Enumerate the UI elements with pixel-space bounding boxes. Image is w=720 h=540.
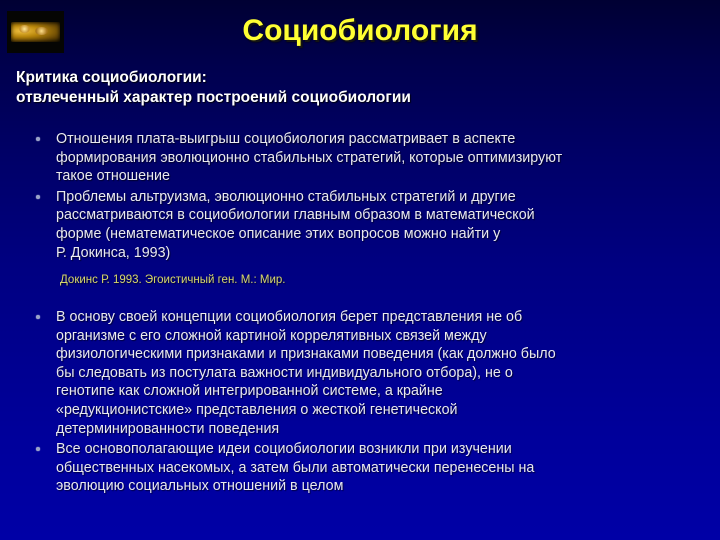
- bullet-dot-icon: [36, 137, 40, 141]
- slide-title: Социобиология: [0, 14, 720, 48]
- slide-subtitle: Критика социобиологии: отвлеченный харак…: [16, 68, 706, 108]
- list-item-line: генотипе как сложной интегрированной сис…: [56, 382, 702, 401]
- subtitle-line-1: Критика социобиологии:: [16, 68, 706, 88]
- list-item-line: рассматриваются в социобиологии главным …: [56, 206, 702, 225]
- list-item-line: детерминированности поведения: [56, 420, 702, 439]
- bullet-dot-icon: [36, 447, 40, 451]
- list-item-line: организме с его сложной картиной корреля…: [56, 327, 702, 346]
- list-item-text: Отношения плата-выигрыш социобиология ра…: [56, 130, 702, 186]
- citation-reference: Докинс Р. 1993. Эгоистичный ген. М.: Мир…: [60, 273, 285, 287]
- list-item-text: Проблемы альтруизма, эволюционно стабиль…: [56, 188, 702, 262]
- list-item: Отношения плата-выигрыш социобиология ра…: [30, 130, 702, 186]
- list-item-line: Все основополагающие идеи социобиологии …: [56, 440, 702, 459]
- bullet-dot-icon: [36, 195, 40, 199]
- list-item-line: форме (нематематическое описание этих во…: [56, 225, 702, 244]
- list-item-line: В основу своей концепции социобиология б…: [56, 308, 702, 327]
- list-item-line: общественных насекомых, а затем были авт…: [56, 459, 702, 478]
- list-item-line: Отношения плата-выигрыш социобиология ра…: [56, 130, 702, 149]
- list-item-line: бы следовать из постулата важности индив…: [56, 364, 702, 383]
- list-item: Все основополагающие идеи социобиологии …: [30, 440, 702, 496]
- list-item-line: такое отношение: [56, 167, 702, 186]
- list-item-text: Все основополагающие идеи социобиологии …: [56, 440, 702, 496]
- bullet-list-bottom: В основу своей концепции социобиология б…: [30, 308, 702, 498]
- list-item-text: В основу своей концепции социобиология б…: [56, 308, 702, 438]
- subtitle-line-2: отвлеченный характер построений социобио…: [16, 88, 706, 108]
- list-item-line: эволюцию социальных отношений в целом: [56, 477, 702, 496]
- list-item: Проблемы альтруизма, эволюционно стабиль…: [30, 188, 702, 262]
- list-item-line: физиологическими признаками и признаками…: [56, 345, 702, 364]
- presentation-slide: Социобиология Критика социобиологии: отв…: [0, 0, 720, 540]
- list-item-line: Проблемы альтруизма, эволюционно стабиль…: [56, 188, 702, 207]
- list-item-line: Р. Докинса, 1993): [56, 244, 702, 263]
- list-item-line: «редукционистские» представления о жестк…: [56, 401, 702, 420]
- bullet-dot-icon: [36, 315, 40, 319]
- list-item-line: формирования эволюционно стабильных стра…: [56, 149, 702, 168]
- bullet-list-top: Отношения плата-выигрыш социобиология ра…: [30, 130, 702, 264]
- list-item: В основу своей концепции социобиология б…: [30, 308, 702, 438]
